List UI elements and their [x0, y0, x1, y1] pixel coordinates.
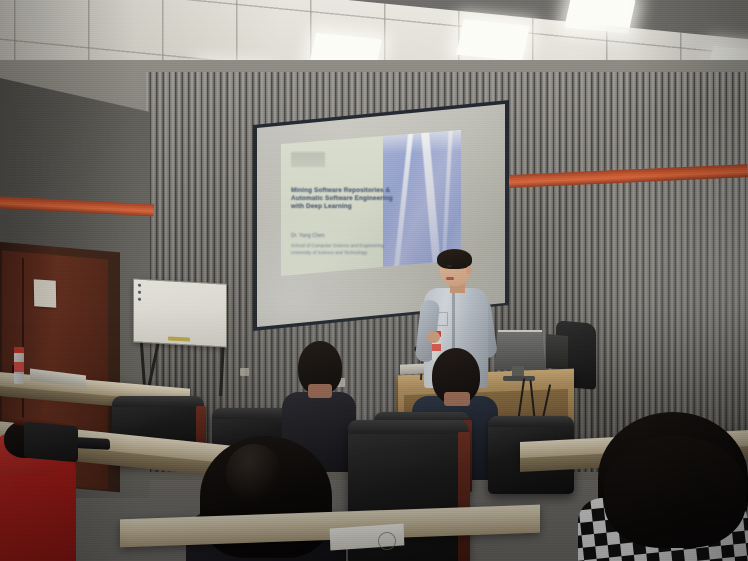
speaker-hand: [427, 331, 440, 343]
lecture-hall-photo: Mining Software Repositories & Automatic…: [0, 0, 748, 561]
attendee-long-hair-center-hair-sheen: [226, 444, 282, 502]
speaker-mouth: [446, 277, 454, 280]
speaker-eye: [447, 265, 452, 267]
whiteboard-magnet-3: [138, 298, 141, 301]
slide-affiliation-2: University of Science and Technology: [291, 250, 367, 256]
secondary-monitor[interactable]: [546, 334, 568, 370]
slide-affiliation-1: School of Computer Science and Engineeri…: [291, 243, 384, 249]
bottle-label: [432, 344, 441, 351]
chair-mid-right-headrest: [488, 416, 574, 427]
slide-title-line-3: with Deep Learning: [291, 203, 352, 211]
slide-title-line-2: Automatic Software Engineering: [291, 195, 393, 203]
projected-slide: Mining Software Repositories & Automatic…: [281, 130, 461, 276]
chair-front-center-headrest: [348, 420, 468, 434]
paper-notice-icon: [34, 279, 56, 308]
slide-title-line-1: Mining Software Repositories &: [291, 187, 390, 195]
chair-far-left[interactable]: [24, 422, 78, 463]
paper-stamp-icon: [378, 532, 396, 550]
smartphone-icon[interactable]: [76, 437, 111, 450]
chair-back-1-headrest: [112, 396, 204, 407]
attendee-short-hair-left-neck: [308, 384, 332, 398]
whiteboard-magnet-1: [138, 284, 141, 287]
whiteboard-magnet-2: [138, 291, 141, 294]
attendee-short-hair-center-neck: [444, 392, 470, 406]
chair-front-center-frame: [458, 432, 470, 561]
slide-presenter-name: Dr. Yang Chen: [291, 234, 325, 240]
wall-outlet-2: [240, 368, 249, 376]
attendee-checkered-hair-front: [604, 436, 746, 548]
desk-bottle-cap: [14, 347, 24, 353]
desk-bottle-label: [14, 362, 24, 372]
slide-logo-icon: [291, 152, 325, 167]
speaker-ear: [466, 266, 472, 275]
slide-streak-1: [393, 130, 414, 276]
